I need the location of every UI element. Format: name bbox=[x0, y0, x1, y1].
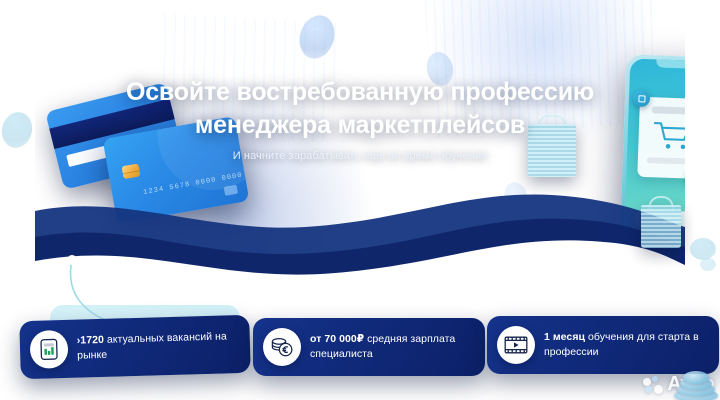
feature-text: 1 месяц обучения для старта в профессии bbox=[544, 330, 709, 360]
watermark-label: Avito bbox=[667, 373, 714, 396]
feature-highlight: от 70 000₽ bbox=[310, 333, 364, 345]
page-title: Освойте востребованную профессию менедже… bbox=[35, 76, 685, 141]
feature-text: от 70 000₽ средняя зарплата специалиста bbox=[310, 332, 475, 362]
headline-line-1: Освойте востребованную профессию bbox=[35, 76, 685, 109]
feature-text: ›1720 актуальных вакансий на рынке bbox=[77, 329, 241, 363]
phone-notch bbox=[656, 59, 685, 68]
headline-line-2: менеджера маркетплейсов bbox=[35, 109, 685, 142]
video-player-icon bbox=[497, 326, 535, 364]
feature-highlight: ›1720 bbox=[77, 334, 104, 347]
feature-highlight: 1 месяц bbox=[544, 331, 585, 343]
feature-card-salary[interactable]: от 70 000₽ средняя зарплата специалиста bbox=[253, 318, 485, 376]
promo-banner: 1234 5678 0000 0000 bbox=[0, 0, 720, 400]
shopping-bag-icon bbox=[641, 196, 681, 248]
page-subtitle: И начните зарабатывать еще во время обуч… bbox=[35, 150, 685, 162]
phone-vacancies-icon bbox=[30, 330, 69, 369]
avito-dots-logo bbox=[643, 376, 665, 394]
bubble-decoration bbox=[0, 109, 36, 151]
bag-body bbox=[641, 205, 681, 248]
avito-watermark: Avito bbox=[643, 373, 714, 396]
bubble-decoration bbox=[700, 258, 716, 271]
feature-card-vacancies[interactable]: ›1720 актуальных вакансий на рынке bbox=[19, 315, 251, 379]
bubble-decoration bbox=[690, 238, 716, 260]
feature-card-duration[interactable]: 1 месяц обучения для старта в профессии bbox=[487, 316, 719, 374]
coin-stack-decoration bbox=[674, 370, 718, 400]
coins-icon bbox=[263, 328, 301, 366]
